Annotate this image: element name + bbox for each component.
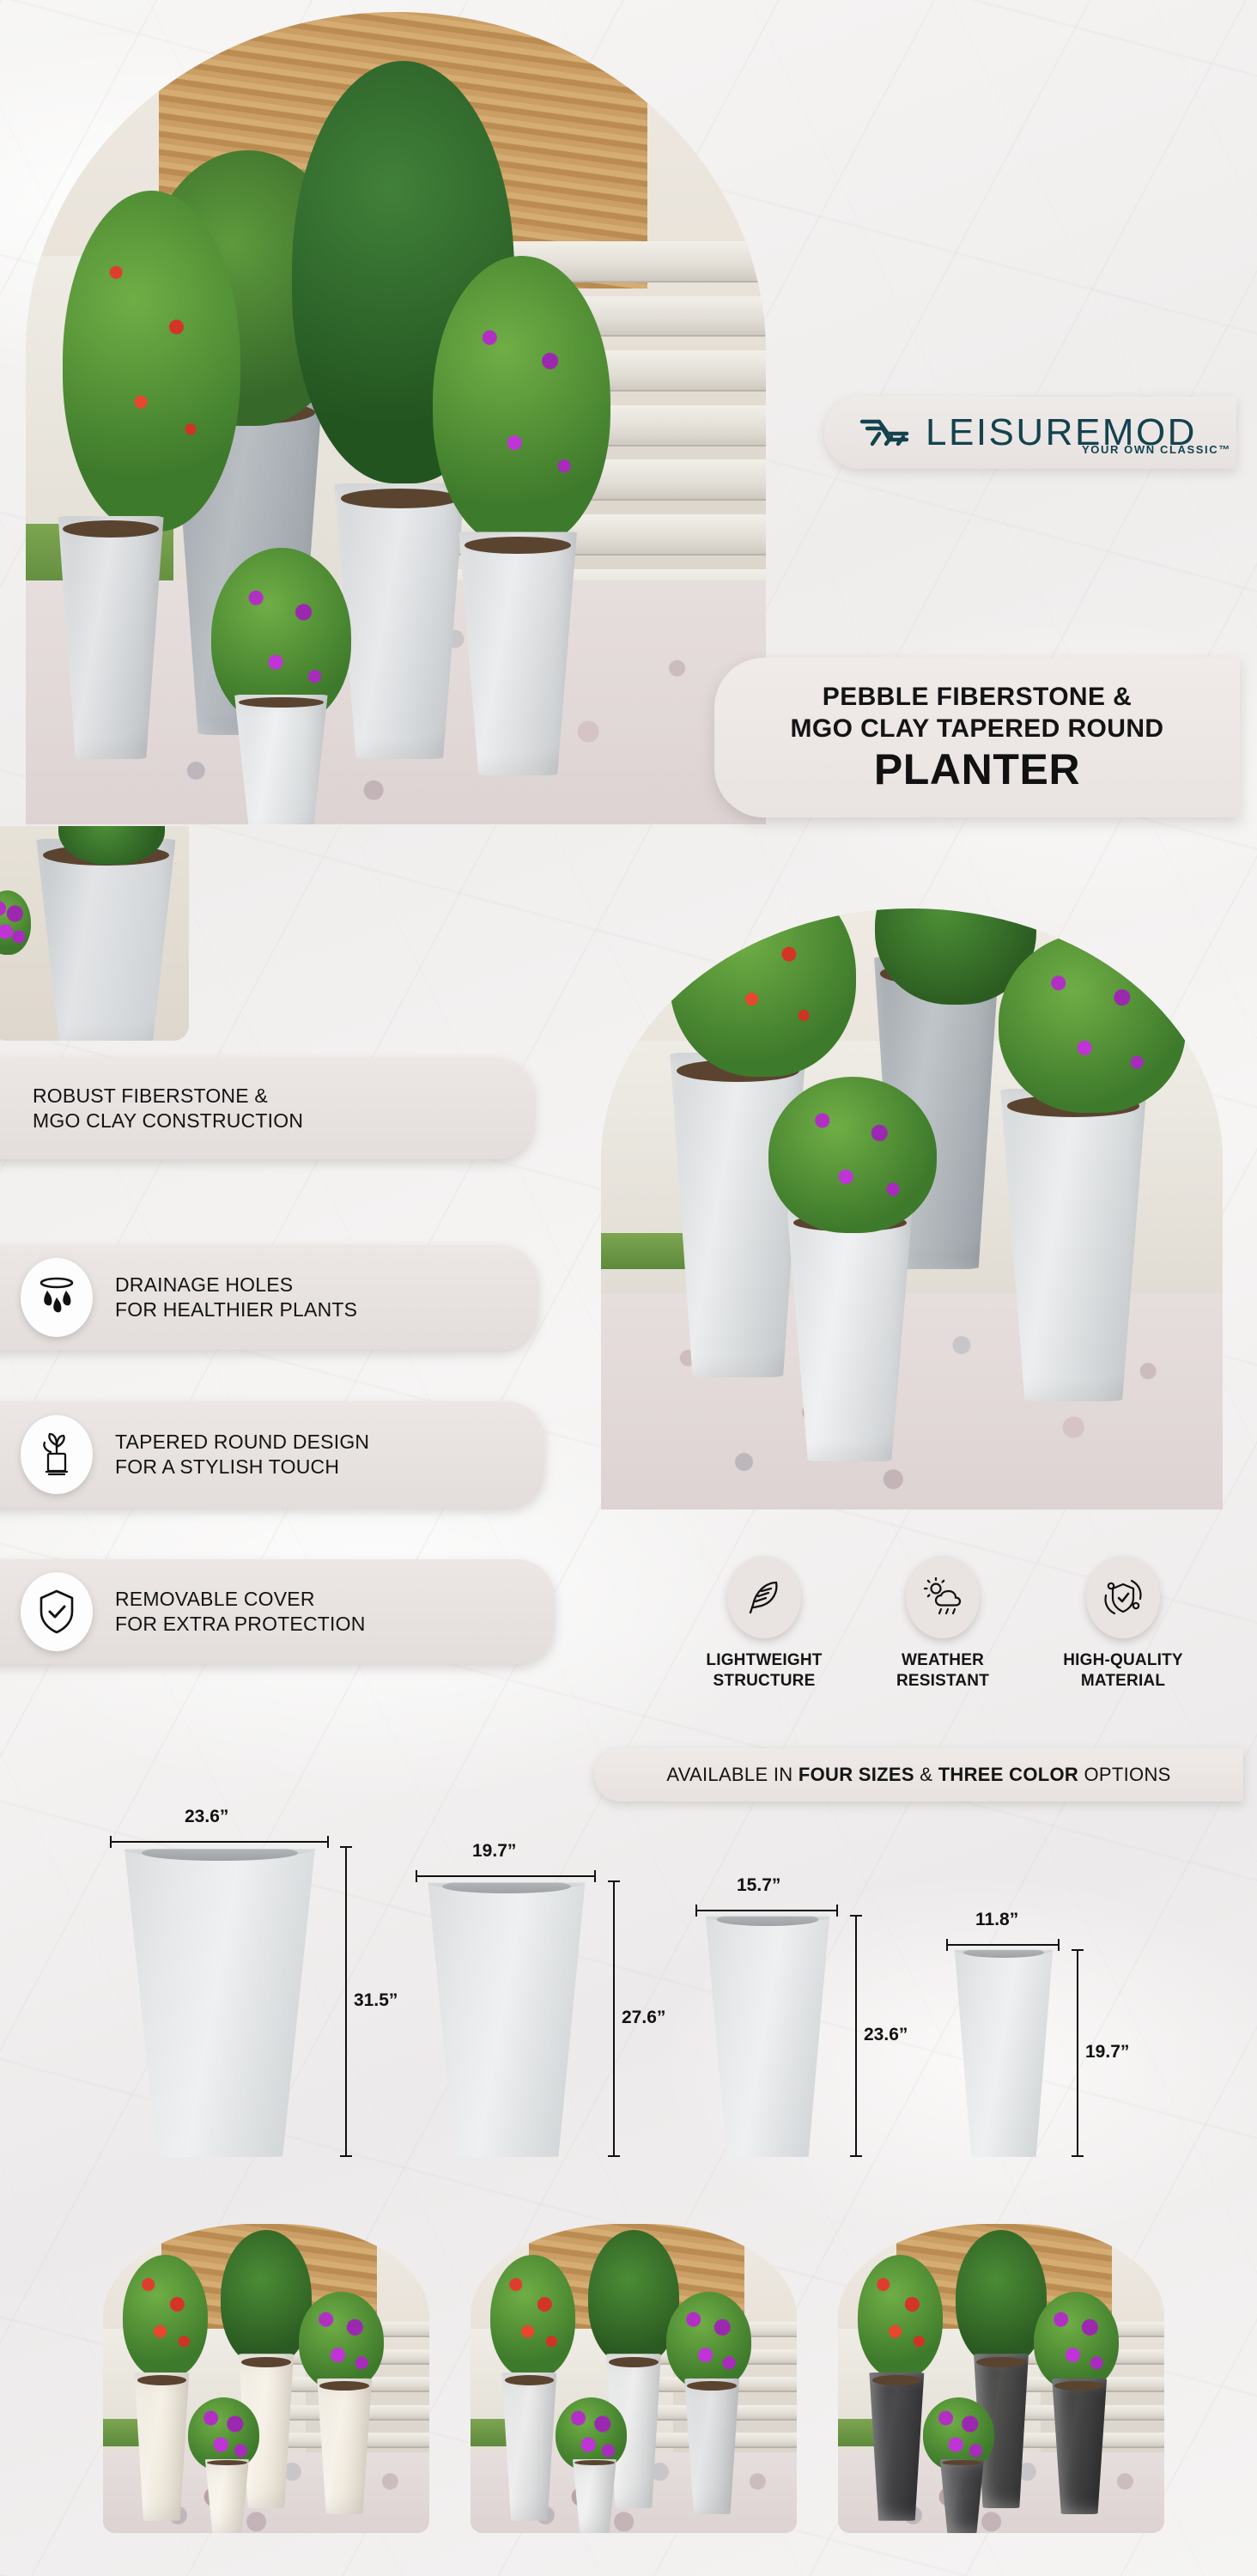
feature-text-drainage: DRAINAGE HOLES FOR HEALTHIER PLANTS [115, 1273, 357, 1323]
hero-planter-photo [26, 12, 766, 824]
badge-text-quality: HIGH-QUALITYMATERIAL [1046, 1650, 1200, 1692]
feature-text-design: TAPERED ROUND DESIGN FOR A STYLISH TOUCH [115, 1430, 369, 1480]
feature-pill-construction: ROBUST FIBERSTONE & MGO CLAY CONSTRUCTIO… [0, 1058, 534, 1159]
product-title-line-1: PEBBLE FIBERSTONE & [823, 682, 1132, 714]
shield-orbit-icon [1086, 1556, 1160, 1638]
color-variant-photo-light-grey [471, 2224, 797, 2533]
size-figure-2: 19.7” 27.6” [402, 1846, 659, 2172]
feature-text-cover: REMOVABLE COVER FOR EXTRA PROTECTION [115, 1587, 366, 1637]
shield-check-icon [21, 1572, 93, 1651]
brand-logo-tagline: YOUR OWN CLASSIC™ [1082, 443, 1231, 456]
size-height-label-4: 19.7” [1085, 2042, 1129, 2063]
feature-pill-cover: REMOVABLE COVER FOR EXTRA PROTECTION [0, 1559, 555, 1664]
size-figure-3: 15.7” 23.6” [683, 1880, 907, 2172]
size-height-label-2: 27.6” [622, 2008, 665, 2028]
color-variant-photo-ivory [103, 2224, 429, 2533]
water-droplets-icon [21, 1258, 93, 1337]
badge-weather: WEATHERRESISTANT [865, 1556, 1020, 1692]
feature-text-construction: ROBUST FIBERSTONE & MGO CLAY CONSTRUCTIO… [33, 1084, 303, 1134]
color-variant-photo-charcoal [838, 2224, 1164, 2533]
badge-quality: HIGH-QUALITYMATERIAL [1046, 1556, 1200, 1692]
size-figure-4: 11.8” 19.7” [936, 1915, 1151, 2172]
size-width-label-3: 15.7” [737, 1875, 780, 1896]
feature-pill-drainage: DRAINAGE HOLES FOR HEALTHIER PLANTS [0, 1245, 537, 1350]
sizes-banner-text: AVAILABLE IN FOUR SIZES & THREE COLOR OP… [666, 1764, 1170, 1786]
size-width-label-4: 11.8” [975, 1910, 1018, 1930]
product-title-card: PEBBLE FIBERSTONE & MGO CLAY TAPERED ROU… [714, 658, 1240, 817]
badge-text-weather: WEATHERRESISTANT [865, 1650, 1020, 1692]
product-title-line-2: MGO CLAY TAPERED ROUND [791, 714, 1164, 745]
product-title-line-3: PLANTER [874, 745, 1080, 793]
feather-icon [727, 1556, 801, 1638]
closeup-planter-photo [0, 826, 189, 1041]
sizes-banner: AVAILABLE IN FOUR SIZES & THREE COLOR OP… [594, 1748, 1243, 1801]
size-figure-1: 23.6” 31.5” [94, 1812, 378, 2172]
feature-pill-design: TAPERED ROUND DESIGN FOR A STYLISH TOUCH [0, 1401, 544, 1508]
sun-cloud-rain-icon [906, 1556, 980, 1638]
size-height-label-3: 23.6” [864, 2025, 908, 2045]
planter-group-photo [601, 908, 1223, 1510]
size-width-label-1: 23.6” [185, 1807, 228, 1827]
size-width-label-2: 19.7” [472, 1841, 516, 1862]
potted-plant-icon [21, 1415, 93, 1494]
badge-text-lightweight: LIGHTWEIGHTSTRUCTURE [687, 1650, 841, 1692]
badge-lightweight: LIGHTWEIGHTSTRUCTURE [687, 1556, 841, 1692]
size-height-label-1: 31.5” [354, 1990, 398, 2011]
brand-logo: LEISUREMOD YOUR OWN CLASSIC™ [824, 397, 1236, 469]
lounge-chair-icon [857, 411, 912, 455]
